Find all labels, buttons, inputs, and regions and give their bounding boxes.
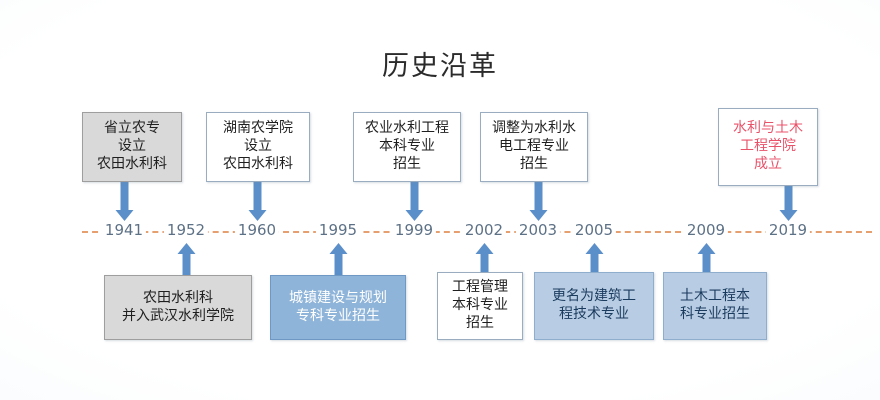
arrow-down-2003 — [532, 182, 545, 221]
event-box-line: 专科专业招生 — [296, 308, 380, 326]
timeline-year-1999: 1999 — [392, 220, 436, 240]
arrow-head — [529, 210, 547, 221]
arrow-down-1960 — [251, 182, 264, 221]
event-box-line: 招生 — [466, 315, 494, 333]
event-box-line: 工程学院 — [740, 138, 796, 156]
event-box-2009: 土木工程本科专业招生 — [663, 272, 767, 340]
timeline-year-2002: 2002 — [462, 220, 506, 240]
event-box-1995: 城镇建设与规划专科专业招生 — [270, 275, 406, 340]
event-box-line: 农田水利科 — [143, 290, 213, 308]
arrow-shaft — [590, 253, 598, 272]
timeline-year-1995: 1995 — [316, 220, 360, 240]
arrow-head — [115, 210, 133, 221]
arrow-up-2005 — [588, 243, 601, 272]
arrow-shaft — [120, 182, 128, 211]
event-box-1952: 农田水利科并入武汉水利学院 — [104, 275, 252, 340]
event-box-line: 本科专业 — [452, 297, 508, 315]
event-box-line: 并入武汉水利学院 — [122, 308, 234, 326]
arrow-shaft — [253, 182, 261, 211]
event-box-1960: 湖南农学院设立农田水利科 — [206, 112, 310, 182]
event-box-line: 城镇建设与规划 — [289, 290, 387, 308]
event-box-line: 招生 — [520, 156, 548, 174]
arrow-head — [405, 210, 423, 221]
event-box-line: 招生 — [393, 156, 421, 174]
arrow-head — [475, 243, 493, 254]
arrow-shaft — [702, 253, 710, 272]
event-box-line: 土木工程本 — [680, 288, 750, 306]
event-box-line: 本科专业 — [379, 138, 435, 156]
event-box-line: 水利与土木 — [733, 120, 803, 138]
event-box-line: 科专业招生 — [680, 306, 750, 324]
event-box-line: 成立 — [754, 156, 782, 174]
event-box-line: 调整为水利水 — [492, 120, 576, 138]
arrow-head — [585, 243, 603, 254]
timeline-year-2005: 2005 — [572, 220, 616, 240]
arrow-head — [177, 243, 195, 254]
event-box-line: 程技术专业 — [559, 306, 629, 324]
arrow-shaft — [334, 253, 342, 275]
arrow-down-2019 — [782, 186, 795, 221]
event-box-1941: 省立农专设立农田水利科 — [82, 112, 182, 182]
event-box-line: 省立农专 — [104, 120, 160, 138]
event-box-2019: 水利与土木工程学院成立 — [718, 108, 818, 186]
event-box-line: 湖南农学院 — [223, 120, 293, 138]
page-title: 历史沿革 — [0, 44, 880, 83]
arrow-head — [697, 243, 715, 254]
arrow-up-1952 — [180, 243, 193, 275]
arrow-head — [779, 210, 797, 221]
timeline-year-2003: 2003 — [516, 220, 560, 240]
event-box-line: 电工程专业 — [499, 138, 569, 156]
event-box-line: 设立 — [118, 138, 146, 156]
arrow-down-1941 — [118, 182, 131, 221]
event-box-line: 工程管理 — [452, 279, 508, 297]
arrow-shaft — [480, 253, 488, 272]
arrow-shaft — [534, 182, 542, 211]
event-box-line: 更名为建筑工 — [552, 288, 636, 306]
event-box-line: 农田水利科 — [223, 156, 293, 174]
event-box-line: 农业水利工程 — [365, 120, 449, 138]
arrow-shaft — [182, 253, 190, 275]
event-box-2002: 工程管理本科专业招生 — [437, 272, 523, 340]
event-box-2003: 调整为水利水电工程专业招生 — [480, 112, 588, 182]
arrow-head — [329, 243, 347, 254]
arrow-shaft — [784, 186, 792, 211]
arrow-down-1999 — [408, 182, 421, 221]
timeline-year-1952: 1952 — [164, 220, 208, 240]
timeline-year-2019: 2019 — [766, 220, 810, 240]
arrow-up-2002 — [478, 243, 491, 272]
event-box-line: 设立 — [244, 138, 272, 156]
arrow-shaft — [410, 182, 418, 211]
timeline-year-1941: 1941 — [102, 220, 146, 240]
timeline-year-2009: 2009 — [684, 220, 728, 240]
event-box-line: 农田水利科 — [97, 156, 167, 174]
timeline-year-1960: 1960 — [235, 220, 279, 240]
event-box-1999: 农业水利工程本科专业招生 — [353, 112, 461, 182]
arrow-up-2009 — [700, 243, 713, 272]
arrow-up-1995 — [332, 243, 345, 275]
event-box-2005: 更名为建筑工程技术专业 — [534, 272, 654, 340]
arrow-head — [248, 210, 266, 221]
timeline-diagram: 历史沿革 19411952196019951999200220032005200… — [0, 0, 880, 400]
